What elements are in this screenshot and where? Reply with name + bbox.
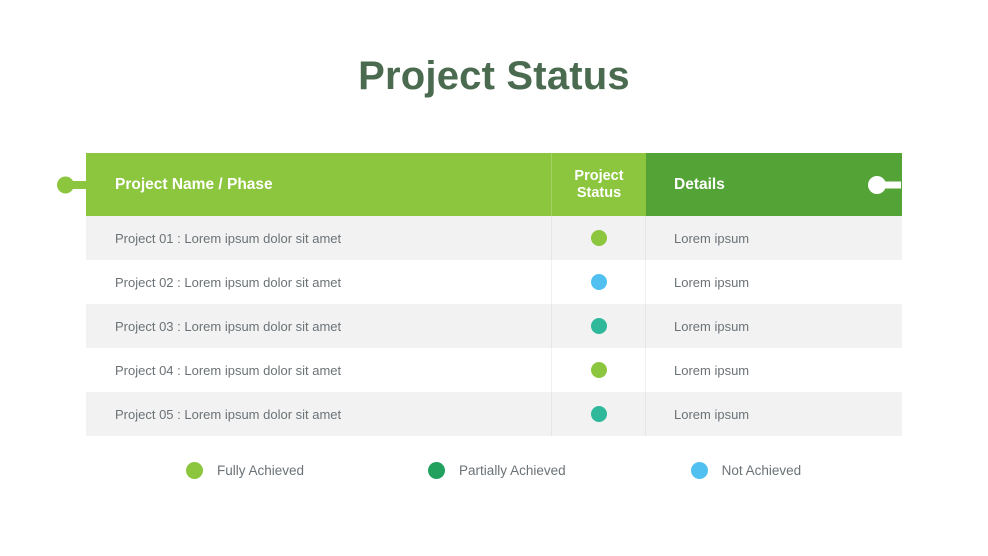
- table-header-project-status[interactable]: ProjectStatus: [551, 153, 646, 216]
- project-name-text: Project 01 : Lorem ipsum dolor sit amet: [115, 231, 341, 246]
- table-header-row: Project Name / Phase ProjectStatus Detai…: [86, 153, 902, 216]
- table-row[interactable]: Project 02 : Lorem ipsum dolor sit amet …: [86, 260, 902, 304]
- cell-details: Lorem ipsum: [646, 260, 902, 304]
- details-text: Lorem ipsum: [674, 231, 749, 246]
- legend: Fully Achieved Partially Achieved Not Ac…: [86, 462, 902, 479]
- status-dot-icon: [591, 318, 607, 334]
- connector-stem-left-icon: [64, 181, 94, 189]
- cell-project-status: [551, 260, 646, 304]
- cell-project-status: [551, 348, 646, 392]
- details-text: Lorem ipsum: [674, 407, 749, 422]
- legend-label: Partially Achieved: [459, 463, 566, 478]
- details-text: Lorem ipsum: [674, 363, 749, 378]
- table-header-project-status-label: ProjectStatus: [574, 168, 623, 201]
- table-header-details[interactable]: Details: [646, 153, 902, 216]
- legend-label: Not Achieved: [722, 463, 802, 478]
- cell-project-name: Project 01 : Lorem ipsum dolor sit amet: [86, 216, 551, 260]
- project-name-text: Project 05 : Lorem ipsum dolor sit amet: [115, 407, 341, 422]
- table-row[interactable]: Project 05 : Lorem ipsum dolor sit amet …: [86, 392, 902, 436]
- details-text: Lorem ipsum: [674, 275, 749, 290]
- legend-item-not-achieved[interactable]: Not Achieved: [691, 462, 802, 479]
- status-dot-icon: [591, 362, 607, 378]
- cell-project-status: [551, 392, 646, 436]
- status-dot-icon: [591, 406, 607, 422]
- cell-details: Lorem ipsum: [646, 304, 902, 348]
- legend-item-partially-achieved[interactable]: Partially Achieved: [428, 462, 566, 479]
- table-row[interactable]: Project 01 : Lorem ipsum dolor sit amet …: [86, 216, 902, 260]
- project-name-text: Project 03 : Lorem ipsum dolor sit amet: [115, 319, 341, 334]
- table-header-details-label: Details: [674, 176, 725, 194]
- cell-project-name: Project 04 : Lorem ipsum dolor sit amet: [86, 348, 551, 392]
- legend-item-fully-achieved[interactable]: Fully Achieved: [186, 462, 304, 479]
- table-row[interactable]: Project 04 : Lorem ipsum dolor sit amet …: [86, 348, 902, 392]
- cell-project-name: Project 03 : Lorem ipsum dolor sit amet: [86, 304, 551, 348]
- project-name-text: Project 04 : Lorem ipsum dolor sit amet: [115, 363, 341, 378]
- cell-project-status: [551, 216, 646, 260]
- legend-label: Fully Achieved: [217, 463, 304, 478]
- project-name-text: Project 02 : Lorem ipsum dolor sit amet: [115, 275, 341, 290]
- cell-project-name: Project 05 : Lorem ipsum dolor sit amet: [86, 392, 551, 436]
- cell-details: Lorem ipsum: [646, 392, 902, 436]
- cell-project-name: Project 02 : Lorem ipsum dolor sit amet: [86, 260, 551, 304]
- status-dot-icon: [591, 274, 607, 290]
- cell-details: Lorem ipsum: [646, 216, 902, 260]
- project-status-table: Project Name / Phase ProjectStatus Detai…: [86, 153, 902, 436]
- cell-details: Lorem ipsum: [646, 348, 902, 392]
- legend-dot-icon: [691, 462, 708, 479]
- table-row[interactable]: Project 03 : Lorem ipsum dolor sit amet …: [86, 304, 902, 348]
- legend-dot-icon: [428, 462, 445, 479]
- connector-dot-right-icon: [868, 176, 886, 194]
- table-header-project-name[interactable]: Project Name / Phase: [86, 153, 551, 216]
- page-title: Project Status: [0, 52, 988, 100]
- legend-dot-icon: [186, 462, 203, 479]
- details-text: Lorem ipsum: [674, 319, 749, 334]
- table-header-project-name-label: Project Name / Phase: [115, 176, 273, 194]
- status-dot-icon: [591, 230, 607, 246]
- cell-project-status: [551, 304, 646, 348]
